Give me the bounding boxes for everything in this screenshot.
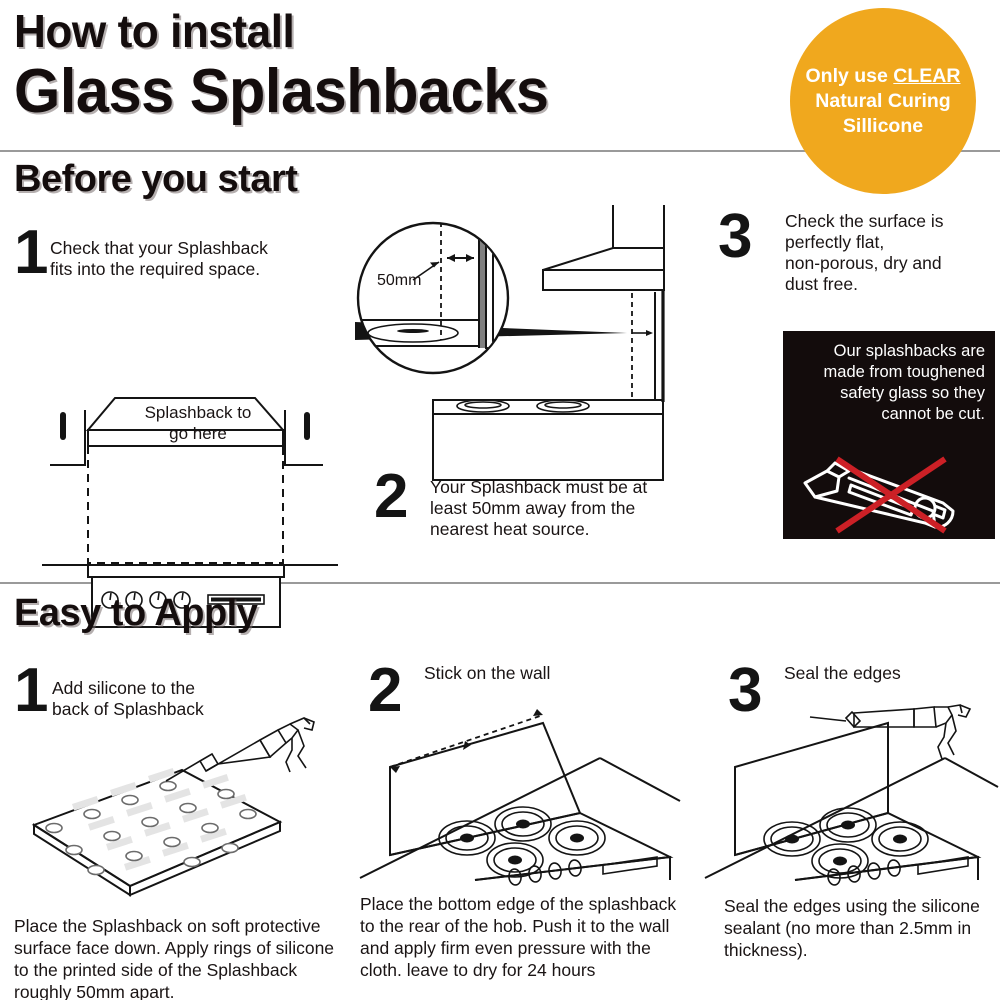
body-text-2-1: Place the Splashback on soft protective … — [14, 915, 344, 1000]
badge-line2: Natural Curing — [815, 90, 950, 112]
step-number-1-2: 2 — [374, 466, 408, 528]
step-number-1-1: 1 — [14, 222, 48, 284]
diagram-seal-edges — [700, 685, 1000, 880]
body-text-2-3: Seal the edges using the silicone sealan… — [724, 895, 1000, 961]
body-text-2-2: Place the bottom edge of the splashback … — [360, 893, 690, 981]
step-number-1-3: 3 — [718, 206, 752, 268]
badge-line1-prefix: Only use — [806, 65, 894, 87]
section-title-before-you-start: Before you start — [14, 158, 297, 201]
step-text-1-1: Check that your Splashback fits into the… — [50, 238, 320, 280]
diagram-apply-silicone — [14, 710, 334, 900]
badge-line3: Sillicone — [843, 115, 923, 137]
page-title-line1: How to install — [14, 4, 294, 58]
clear-silicone-badge: Only use CLEAR Natural Curing Sillicone — [790, 8, 976, 194]
page-title-line2: Glass Splashbacks — [14, 56, 548, 127]
warning-box-cannot-be-cut: Our splashbacks are made from toughened … — [783, 331, 995, 539]
section-title-easy-to-apply: Easy to Apply — [14, 592, 257, 635]
step-text-2-3: Seal the edges — [784, 663, 1000, 684]
diagram-label-splashback-here: Splashback to go here — [128, 402, 268, 444]
step-text-2-2: Stick on the wall — [424, 663, 684, 684]
step-text-1-2: Your Splashback must be at least 50mm aw… — [430, 477, 690, 540]
badge-line1-underlined: CLEAR — [893, 65, 960, 87]
warning-box-text: Our splashbacks are made from toughened … — [793, 341, 985, 425]
knife-crossed-out-icon — [793, 451, 985, 535]
svg-text:50mm: 50mm — [377, 272, 421, 289]
badge-text: Only use CLEAR Natural Curing Sillicone — [806, 64, 961, 139]
infographic-page: How to install Glass Splashbacks Only us… — [0, 0, 1000, 1000]
diagram-stick-on-wall — [355, 685, 685, 880]
diagram-hood-clearance: 50mm — [355, 200, 695, 490]
caulking-gun-icon-2 — [810, 705, 970, 759]
caulking-gun-icon — [166, 718, 314, 781]
step-text-1-3: Check the surface is perfectly flat, non… — [785, 211, 1000, 295]
